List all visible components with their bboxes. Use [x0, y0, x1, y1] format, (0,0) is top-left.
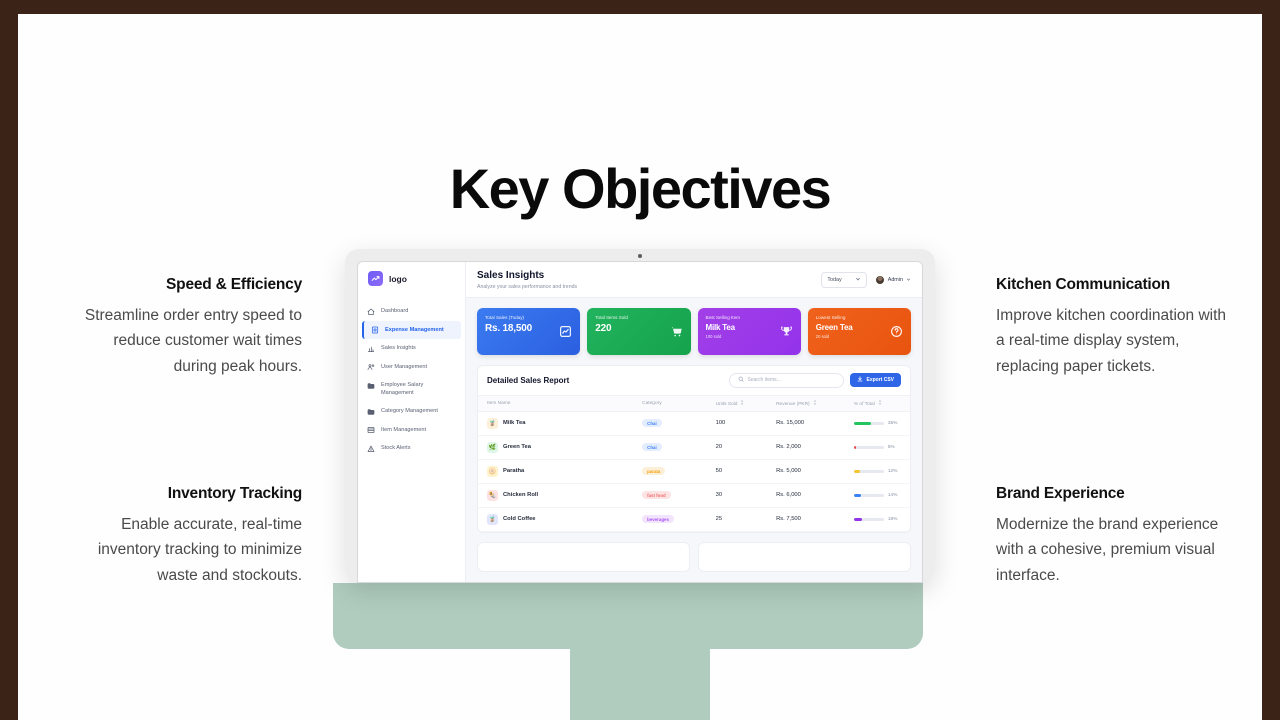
percent-bar — [854, 518, 884, 521]
chevron-down-icon — [906, 277, 911, 284]
stat-sub: 100 sold — [706, 334, 740, 339]
stat-value: 220 — [595, 323, 628, 334]
cell-category: Chai — [642, 411, 715, 435]
user-name: Admin — [888, 277, 903, 283]
sidebar-item-label: Category Management — [381, 407, 457, 415]
webcam-dot — [638, 254, 642, 258]
column-header-of-total[interactable]: % of Total — [854, 395, 910, 411]
column-header-units-sold[interactable]: Units Sold — [716, 395, 776, 411]
percent-bar — [854, 446, 884, 449]
category-pill: parata — [642, 467, 665, 475]
column-header-label: Item Name — [487, 401, 510, 406]
sidebar-item-employee-salary-management[interactable]: Employee Salary Management — [358, 376, 465, 402]
sales-report-card: Detailed Sales Report Search items... — [477, 365, 911, 533]
cell-percent-of-total: 14% — [854, 483, 910, 507]
stat-card-total-sales-today[interactable]: Total Sales (Today)Rs. 18,500 — [477, 308, 580, 355]
percent-bar — [854, 422, 884, 425]
item-name-label: Milk Tea — [503, 420, 525, 426]
category-pill: beverages — [642, 515, 674, 523]
sidebar-item-dashboard[interactable]: Dashboard — [358, 302, 465, 321]
cell-item-name: 🌿Green Tea — [478, 435, 642, 459]
sidebar-item-expense-management[interactable]: Expense Management — [362, 321, 461, 340]
users-icon — [367, 363, 375, 372]
item-name-label: Cold Coffee — [503, 516, 536, 522]
stat-value: Rs. 18,500 — [485, 323, 532, 334]
cell-units-sold: 100 — [716, 411, 776, 435]
sidebar-item-label: Expense Management — [385, 326, 453, 334]
item-emoji-icon: 🫓 — [487, 466, 498, 477]
chevron-down-icon — [855, 276, 861, 284]
sidebar-item-label: User Management — [381, 363, 457, 371]
folder-icon — [367, 381, 375, 390]
app-main: Sales Insights Analyze your sales perfor… — [466, 262, 922, 582]
stat-card-lowest-selling[interactable]: Lowest SellingGreen Tea20 sold — [808, 308, 911, 355]
cell-revenue: Rs. 2,000 — [776, 435, 854, 459]
cell-revenue: Rs. 6,000 — [776, 483, 854, 507]
trophy-icon — [780, 325, 793, 338]
cell-units-sold: 20 — [716, 435, 776, 459]
brand[interactable]: logo — [358, 271, 465, 286]
table-row[interactable]: 🧋Cold Coffeebeverages25Rs. 7,50018% — [478, 507, 910, 531]
screen: logo DashboardExpense ManagementSales In… — [357, 261, 923, 583]
sidebar-item-label: Employee Salary Management — [381, 381, 457, 397]
table-header-row: Item NameCategoryUnits SoldRevenue (PKR)… — [478, 395, 910, 411]
bottom-card-right — [698, 542, 911, 572]
percent-label: 14% — [888, 493, 898, 498]
stat-label: Lowest Selling — [816, 315, 853, 320]
percent-label: 12% — [888, 469, 898, 474]
export-csv-button[interactable]: Export CSV — [850, 373, 901, 387]
objective-body: Improve kitchen coordination with a real… — [996, 303, 1228, 379]
stat-card-total-items-sold[interactable]: Total Items Sold220 — [587, 308, 690, 355]
cell-revenue: Rs. 5,000 — [776, 459, 854, 483]
column-header-item-name: Item Name — [478, 395, 642, 411]
objective-heading: Brand Experience — [996, 485, 1228, 503]
monitor-frame: logo DashboardExpense ManagementSales In… — [345, 249, 935, 583]
expense-icon — [371, 326, 379, 335]
table-row[interactable]: 🌿Green TeaChai20Rs. 2,0005% — [478, 435, 910, 459]
cell-category: fast food — [642, 483, 715, 507]
category-pill: Chai — [642, 443, 662, 451]
cart-icon — [670, 325, 683, 338]
cell-units-sold: 50 — [716, 459, 776, 483]
column-header-label: Revenue (PKR) — [776, 402, 810, 407]
question-circle-icon — [890, 325, 903, 338]
search-input[interactable]: Search items... — [729, 373, 844, 388]
cell-revenue: Rs. 15,000 — [776, 411, 854, 435]
period-select[interactable]: Today — [821, 272, 866, 288]
stat-text: Lowest SellingGreen Tea20 sold — [816, 315, 853, 339]
objective-body: Modernize the brand experience with a co… — [996, 512, 1228, 588]
stat-text: Total Sales (Today)Rs. 18,500 — [485, 315, 532, 334]
item-name-label: Chicken Roll — [503, 492, 538, 498]
sidebar-item-item-management[interactable]: Item Management — [358, 421, 465, 440]
sidebar-item-user-management[interactable]: User Management — [358, 358, 465, 377]
folder-icon — [367, 407, 375, 416]
column-header-revenue-pkr[interactable]: Revenue (PKR) — [776, 395, 854, 411]
stat-text: Total Items Sold220 — [595, 315, 628, 334]
sidebar-item-label: Stock Alerts — [381, 444, 457, 452]
sidebar-nav: DashboardExpense ManagementSales Insight… — [358, 302, 465, 458]
objective-body: Streamline order entry speed to reduce c… — [70, 303, 302, 379]
cell-units-sold: 30 — [716, 483, 776, 507]
home-icon — [367, 307, 375, 316]
bottom-card-left — [477, 542, 690, 572]
cell-units-sold: 25 — [716, 507, 776, 531]
cell-percent-of-total: 5% — [854, 435, 910, 459]
column-header-label: % of Total — [854, 402, 875, 407]
cell-item-name: 🌯Chicken Roll — [478, 483, 642, 507]
report-header: Detailed Sales Report Search items... — [478, 366, 910, 395]
export-csv-label: Export CSV — [866, 377, 894, 383]
item-name-label: Green Tea — [503, 444, 531, 450]
item-emoji-icon: 🧋 — [487, 514, 498, 525]
header-controls: Today Admin — [821, 272, 911, 288]
item-emoji-icon: 🌯 — [487, 490, 498, 501]
table-row[interactable]: 🌯Chicken Rollfast food30Rs. 6,00014% — [478, 483, 910, 507]
objective-brand-experience: Brand Experience Modernize the brand exp… — [996, 485, 1228, 588]
grid-icon — [367, 426, 375, 435]
category-pill: Chai — [642, 419, 662, 427]
item-emoji-icon: 🧋 — [487, 418, 498, 429]
column-header-label: Category — [642, 401, 661, 406]
brand-name: logo — [389, 274, 407, 284]
objective-body: Enable accurate, real-time inventory tra… — [70, 512, 302, 588]
search-placeholder: Search items... — [747, 377, 780, 383]
objective-heading: Kitchen Communication — [996, 276, 1228, 294]
search-icon — [738, 376, 744, 384]
cell-percent-of-total: 18% — [854, 507, 910, 531]
period-select-value: Today — [827, 277, 841, 283]
sidebar-item-sales-insights[interactable]: Sales Insights — [358, 339, 465, 358]
report-title: Detailed Sales Report — [487, 376, 569, 385]
chart-logo-icon — [368, 271, 383, 286]
app-sidebar: logo DashboardExpense ManagementSales In… — [358, 262, 466, 582]
column-header-label: Units Sold — [716, 402, 738, 407]
bottom-cards — [466, 533, 922, 572]
percent-label: 35% — [888, 421, 898, 426]
item-emoji-icon: 🌿 — [487, 442, 498, 453]
cell-item-name: 🧋Milk Tea — [478, 411, 642, 435]
stat-value: Milk Tea — [706, 323, 740, 332]
stat-cards: Total Sales (Today)Rs. 18,500Total Items… — [466, 298, 922, 355]
sidebar-item-category-management[interactable]: Category Management — [358, 402, 465, 421]
percent-bar — [854, 494, 884, 497]
objective-inventory-tracking: Inventory Tracking Enable accurate, real… — [70, 485, 302, 588]
stat-value: Green Tea — [816, 323, 853, 332]
alert-triangle-icon — [367, 444, 375, 453]
page-title: Key Objectives — [18, 156, 1262, 221]
percent-label: 18% — [888, 517, 898, 522]
stat-label: Total Items Sold — [595, 315, 628, 320]
device-mockup: logo DashboardExpense ManagementSales In… — [345, 249, 935, 720]
table-row[interactable]: 🫓Parathaparata50Rs. 5,00012% — [478, 459, 910, 483]
objective-heading: Speed & Efficiency — [70, 276, 302, 294]
app-header: Sales Insights Analyze your sales perfor… — [466, 262, 922, 298]
sales-table: Item NameCategoryUnits SoldRevenue (PKR)… — [478, 395, 910, 532]
header-titles: Sales Insights Analyze your sales perfor… — [477, 270, 577, 290]
line-chart-icon — [559, 325, 572, 338]
objective-kitchen-communication: Kitchen Communication Improve kitchen co… — [996, 276, 1228, 379]
slide-canvas: Key Objectives Speed & Efficiency Stream… — [18, 14, 1262, 720]
item-name-label: Paratha — [503, 468, 524, 474]
download-icon — [857, 376, 863, 384]
cell-category: Chai — [642, 435, 715, 459]
app-page-title: Sales Insights — [477, 270, 577, 281]
sidebar-item-label: Item Management — [381, 426, 457, 434]
category-pill: fast food — [642, 491, 671, 499]
monitor-chin — [333, 583, 923, 649]
cell-item-name: 🧋Cold Coffee — [478, 507, 642, 531]
monitor-stand — [570, 649, 710, 720]
cell-category: beverages — [642, 507, 715, 531]
objective-speed-efficiency: Speed & Efficiency Streamline order entr… — [70, 276, 302, 379]
cell-category: parata — [642, 459, 715, 483]
avatar — [875, 275, 885, 285]
stat-sub: 20 sold — [816, 334, 853, 339]
stat-label: Total Sales (Today) — [485, 315, 532, 320]
table-head: Item NameCategoryUnits SoldRevenue (PKR)… — [478, 395, 910, 411]
bar-chart-icon — [367, 344, 375, 353]
cell-item-name: 🫓Paratha — [478, 459, 642, 483]
cell-percent-of-total: 12% — [854, 459, 910, 483]
user-menu[interactable]: Admin — [875, 275, 911, 285]
sidebar-item-label: Sales Insights — [381, 344, 457, 352]
column-header-category: Category — [642, 395, 715, 411]
stat-label: Best Selling Item — [706, 315, 740, 320]
cell-revenue: Rs. 7,500 — [776, 507, 854, 531]
sidebar-item-label: Dashboard — [381, 307, 457, 315]
cell-percent-of-total: 35% — [854, 411, 910, 435]
table-row[interactable]: 🧋Milk TeaChai100Rs. 15,00035% — [478, 411, 910, 435]
report-tools: Search items... Export CSV — [729, 373, 901, 388]
objective-heading: Inventory Tracking — [70, 485, 302, 503]
sidebar-item-stock-alerts[interactable]: Stock Alerts — [358, 439, 465, 458]
app-page-subtitle: Analyze your sales performance and trend… — [477, 284, 577, 290]
stat-text: Best Selling ItemMilk Tea100 sold — [706, 315, 740, 339]
table-body: 🧋Milk TeaChai100Rs. 15,00035%🌿Green TeaC… — [478, 411, 910, 531]
percent-bar — [854, 470, 884, 473]
percent-label: 5% — [888, 445, 895, 450]
stat-card-best-selling-item[interactable]: Best Selling ItemMilk Tea100 sold — [698, 308, 801, 355]
